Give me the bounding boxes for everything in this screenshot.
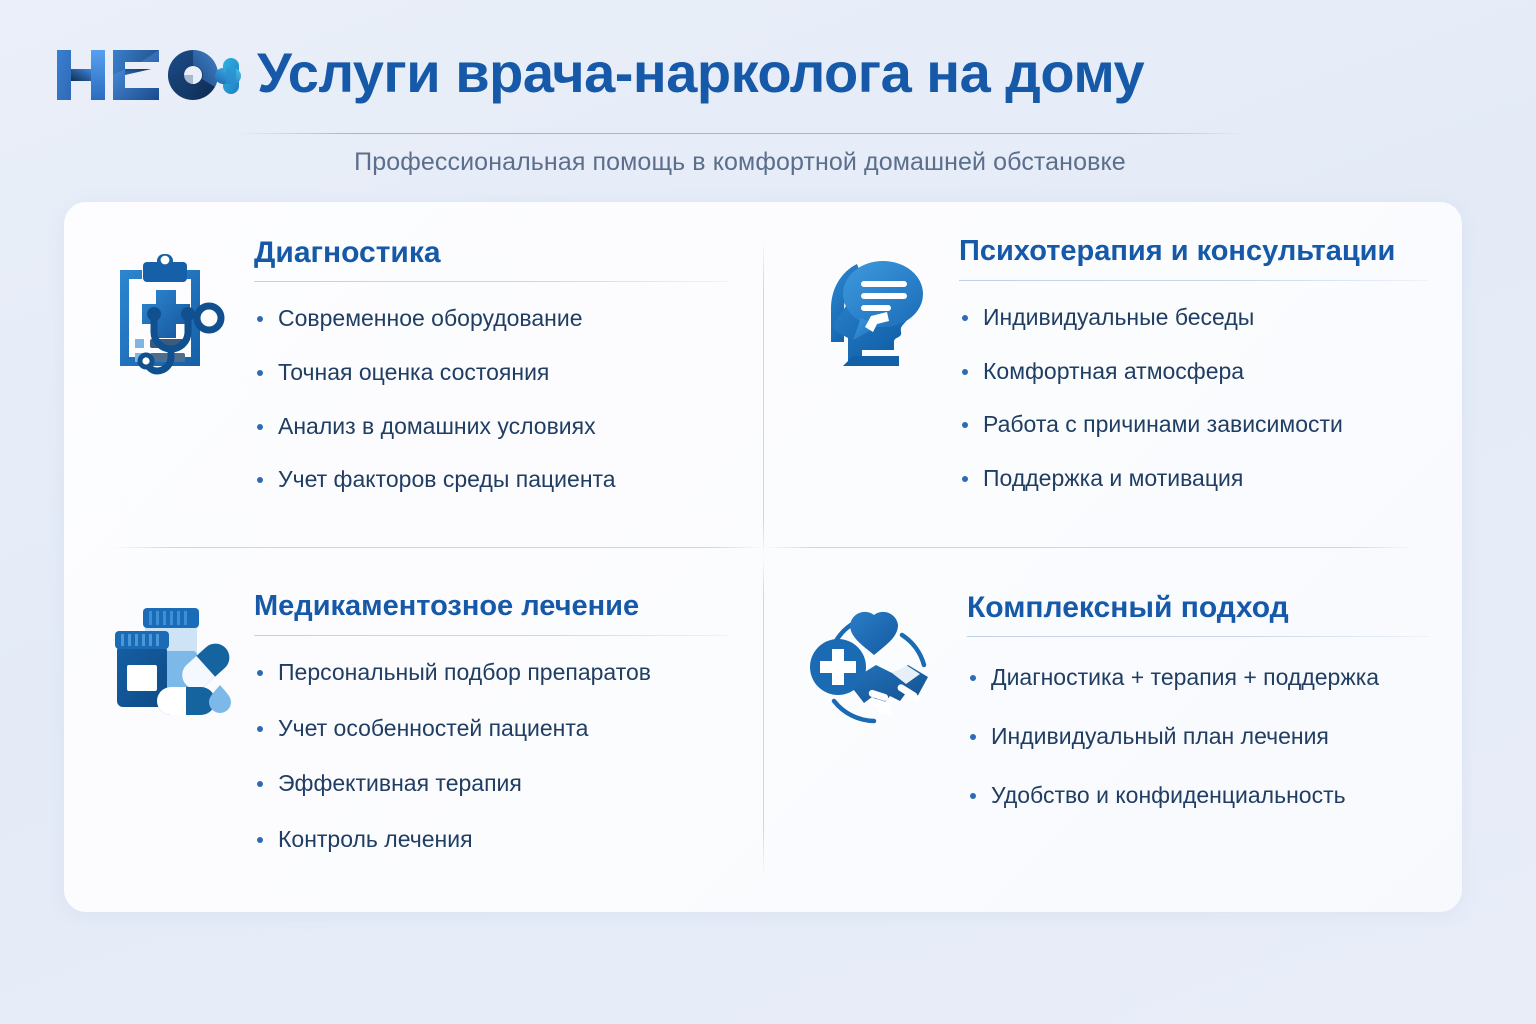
card-bullet-list: Индивидуальные беседы Комфортная атмосфе…	[959, 303, 1428, 493]
page-header: Услуги врача-нарколога на дому Профессио…	[0, 0, 1536, 190]
list-item: Персональный подбор препаратов	[254, 658, 729, 687]
page-title: Услуги врача-нарколога на дому	[257, 45, 1144, 105]
list-item: Работа с причинами зависимости	[959, 410, 1428, 439]
list-item: Контроль лечения	[254, 825, 729, 854]
list-item: Диагностика + терапия + поддержка	[967, 663, 1428, 692]
card-body: Диагностика Современное оборудование Точ…	[248, 236, 729, 494]
clipboard-stethoscope-icon	[98, 236, 248, 380]
card-title: Диагностика	[254, 236, 729, 269]
card-body: Комплексный подход Диагностика + терапия…	[947, 591, 1428, 839]
list-item: Анализ в домашних условиях	[254, 412, 729, 441]
service-card-medication: Медикаментозное лечение Персональный под…	[64, 557, 763, 912]
card-title-underline	[959, 280, 1428, 281]
heart-handshake-cross-icon	[797, 591, 947, 727]
list-item: Эффективная терапия	[254, 769, 729, 798]
header-divider	[236, 133, 1246, 134]
card-body: Медикаментозное лечение Персональный под…	[248, 591, 729, 881]
card-bullet-list: Диагностика + терапия + поддержка Индиви…	[967, 663, 1428, 809]
service-card-psychotherapy: Психотерапия и консультации Индивидуальн…	[763, 202, 1462, 557]
medicine-bottles-pills-icon	[98, 591, 248, 723]
services-grid: Диагностика Современное оборудование Точ…	[64, 202, 1462, 912]
card-title-underline	[254, 635, 729, 636]
card-title: Комплексный подход	[967, 591, 1428, 624]
service-card-diagnostics: Диагностика Современное оборудование Точ…	[64, 202, 763, 557]
list-item: Точная оценка состояния	[254, 358, 729, 387]
page-subtitle: Профессиональная помощь в комфортной дом…	[0, 148, 1480, 177]
service-card-complex-approach: Комплексный подход Диагностика + терапия…	[763, 557, 1462, 912]
card-title-underline	[967, 636, 1428, 637]
brand-row: Услуги врача-нарколога на дому	[55, 44, 1144, 106]
list-item: Комфортная атмосфера	[959, 357, 1428, 386]
list-item: Индивидуальные беседы	[959, 303, 1428, 332]
neo-plus-logo-icon	[55, 44, 241, 106]
card-bullet-list: Персональный подбор препаратов Учет особ…	[254, 658, 729, 854]
list-item: Индивидуальный план лечения	[967, 722, 1428, 751]
card-title: Психотерапия и консультации	[959, 236, 1428, 268]
card-title-underline	[254, 281, 729, 282]
list-item: Удобство и конфиденциальность	[967, 781, 1428, 810]
head-speech-bubble-icon	[797, 236, 947, 378]
list-item: Современное оборудование	[254, 304, 729, 333]
list-item: Поддержка и мотивация	[959, 464, 1428, 493]
card-title: Медикаментозное лечение	[254, 591, 729, 623]
list-item: Учет особенностей пациента	[254, 714, 729, 743]
services-panel: Диагностика Современное оборудование Точ…	[64, 202, 1462, 912]
card-bullet-list: Современное оборудование Точная оценка с…	[254, 304, 729, 494]
list-item: Учет факторов среды пациента	[254, 465, 729, 494]
card-body: Психотерапия и консультации Индивидуальн…	[947, 236, 1428, 493]
